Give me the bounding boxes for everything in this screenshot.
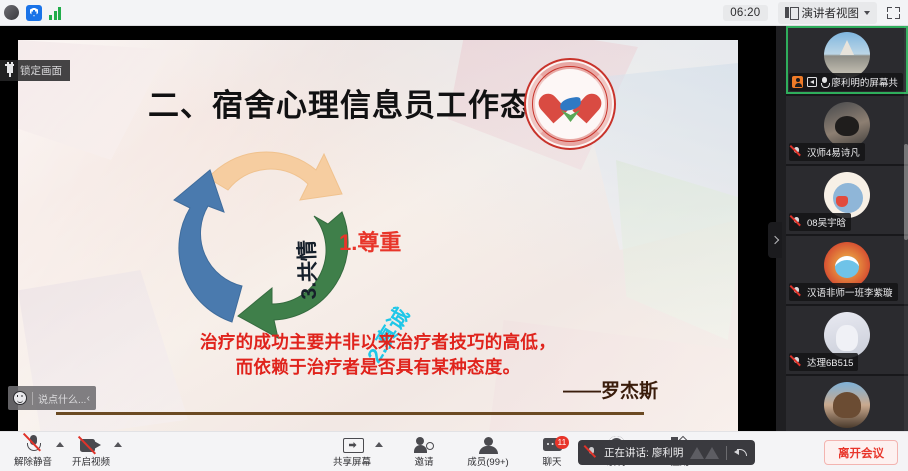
quote-author: ——罗杰斯 xyxy=(58,376,658,403)
cycle-diagram: 1.尊重 2.真诚 3.共情 xyxy=(146,120,376,340)
bird-icon xyxy=(559,97,581,112)
camera-muted-icon xyxy=(80,438,102,453)
participants-label: 成员(99+) xyxy=(467,454,508,468)
participant-name: 达理6B515 xyxy=(807,355,853,369)
chat-button[interactable]: 11 聊天 xyxy=(527,432,577,471)
view-mode-dropdown[interactable]: 演讲者视图 xyxy=(778,2,878,24)
start-video-label: 开启视频 xyxy=(72,454,110,468)
participant-tile[interactable]: 汉师4易诗凡 xyxy=(786,96,908,164)
participants-icon xyxy=(478,437,498,453)
participant-tile[interactable]: 廖利明的屏幕共享 xyxy=(786,26,908,94)
slide-title: 二、宿舍心理信息员工作态度 xyxy=(148,80,564,125)
participant-name: 汉语非师一班李紫璇 xyxy=(807,285,893,299)
participant-name: 汉师4易诗凡 xyxy=(807,145,860,159)
view-mode-label: 演讲者视图 xyxy=(802,5,860,21)
active-speaker-label: 正在讲话: 廖利明 xyxy=(604,445,683,460)
participants-button[interactable]: 成员(99+) xyxy=(463,432,513,471)
chat-unread-badge: 11 xyxy=(555,436,570,449)
invite-person-icon xyxy=(414,437,434,453)
emoji-icon[interactable] xyxy=(13,391,27,405)
heart-icon xyxy=(550,87,590,123)
emblem-inner xyxy=(532,66,608,142)
lock-screen-label: 锁定画面 xyxy=(20,63,62,78)
lock-screen-badge[interactable]: 锁定画面 xyxy=(0,60,70,81)
audio-wave-icon xyxy=(690,447,719,459)
slide-divider xyxy=(56,412,644,415)
participant-namebar: 达理6B515 xyxy=(789,353,858,371)
participant-namebar: 汉师4易诗凡 xyxy=(789,143,865,161)
divider xyxy=(32,392,33,405)
unmute-label: 解除静音 xyxy=(14,454,52,468)
pin-icon xyxy=(4,64,15,77)
cycle-label-1: 1.尊重 xyxy=(339,225,401,257)
participant-tile[interactable]: 达理6B515 xyxy=(786,306,908,374)
microphone-muted-icon xyxy=(792,216,803,228)
invite-label: 邀请 xyxy=(414,454,433,468)
meeting-timer: 06:20 xyxy=(723,5,767,21)
share-screen-button[interactable]: 共享屏幕 xyxy=(327,432,377,471)
top-bar-right-controls: 06:20 演讲者视图 xyxy=(723,2,908,24)
shield-icon[interactable] xyxy=(26,5,42,21)
chat-label: 聊天 xyxy=(542,454,561,468)
quote-line-1: 治疗的成功主要并非以来治疗者技巧的高低， xyxy=(58,330,698,355)
avatar xyxy=(824,32,870,78)
participant-namebar: 汉语非师一班李紫璇 xyxy=(789,283,898,301)
microphone-muted-icon xyxy=(586,446,597,459)
invite-button[interactable]: 邀请 xyxy=(399,432,449,471)
avatar xyxy=(824,382,870,428)
microphone-muted-icon xyxy=(792,146,803,158)
zoom-meeting-window: 06:20 演讲者视图 二、宿舍心理信息员工作态度 xyxy=(0,0,908,471)
avatar xyxy=(824,102,870,148)
microphone-icon xyxy=(821,77,827,88)
participant-name: 廖利明的屏幕共享 xyxy=(831,75,898,89)
slide-quote: 治疗的成功主要并非以来治疗者技巧的高低， 而依赖于治疗者是否具有某种态度。 xyxy=(58,330,698,380)
leaf-icon xyxy=(561,110,580,122)
participant-tile[interactable]: 汉语非师一班李紫璇 xyxy=(786,236,908,304)
quick-chat-input-bar[interactable]: 说点什么... ‹ xyxy=(8,386,96,410)
unmute-button[interactable]: 解除静音 xyxy=(8,432,58,471)
fullscreen-icon[interactable] xyxy=(887,7,900,19)
profile-circle-icon[interactable] xyxy=(4,5,19,20)
participant-namebar: 廖利明的屏幕共享 xyxy=(789,73,903,91)
participant-tile[interactable]: 08吴宇晗 xyxy=(786,166,908,234)
share-screen-icon xyxy=(343,438,362,453)
panel-collapse-handle[interactable] xyxy=(768,222,782,258)
start-video-button[interactable]: 开启视频 xyxy=(66,432,116,471)
participant-strip[interactable]: 廖利明的屏幕共享 汉师4易诗凡 08吴宇晗 汉语非师一班李紫璇 xyxy=(786,26,908,431)
microphone-muted-icon xyxy=(792,286,803,298)
presentation-slide: 二、宿舍心理信息员工作态度 xyxy=(18,40,738,431)
participant-name: 08吴宇晗 xyxy=(807,215,846,229)
undo-arrow-icon[interactable] xyxy=(734,447,747,458)
top-bar: 06:20 演讲者视图 xyxy=(0,0,908,26)
top-bar-left-icons xyxy=(0,5,61,21)
chat-bubble-icon: 11 xyxy=(543,438,562,453)
chevron-down-icon xyxy=(864,11,870,15)
microphone-muted-icon xyxy=(25,435,41,453)
participant-tile[interactable] xyxy=(786,376,908,431)
avatar xyxy=(824,172,870,218)
avatar xyxy=(824,242,870,288)
avatar xyxy=(824,312,870,358)
leave-meeting-button[interactable]: 离开会议 xyxy=(824,440,898,465)
screen-share-icon xyxy=(807,77,818,87)
shared-screen-stage[interactable]: 二、宿舍心理信息员工作态度 xyxy=(0,26,776,431)
share-screen-label: 共享屏幕 xyxy=(333,454,371,468)
quick-chat-placeholder: 说点什么... xyxy=(38,391,87,406)
cycle-label-3: 3.共情 xyxy=(291,239,323,300)
participant-strip-scrollbar[interactable] xyxy=(904,26,908,431)
microphone-muted-icon xyxy=(792,356,803,368)
collapse-chevron-icon[interactable]: ‹ xyxy=(87,393,96,404)
host-person-icon xyxy=(792,76,803,88)
participant-namebar: 08吴宇晗 xyxy=(789,213,851,231)
divider xyxy=(726,446,727,460)
signal-bars-icon[interactable] xyxy=(49,6,61,20)
active-speaker-indicator: 正在讲话: 廖利明 xyxy=(578,440,755,465)
school-emblem-logo xyxy=(524,58,616,150)
meeting-control-bar: 解除静音 开启视频 共享屏幕 邀请 成员(99+) xyxy=(0,431,908,471)
layout-icon xyxy=(785,7,797,18)
